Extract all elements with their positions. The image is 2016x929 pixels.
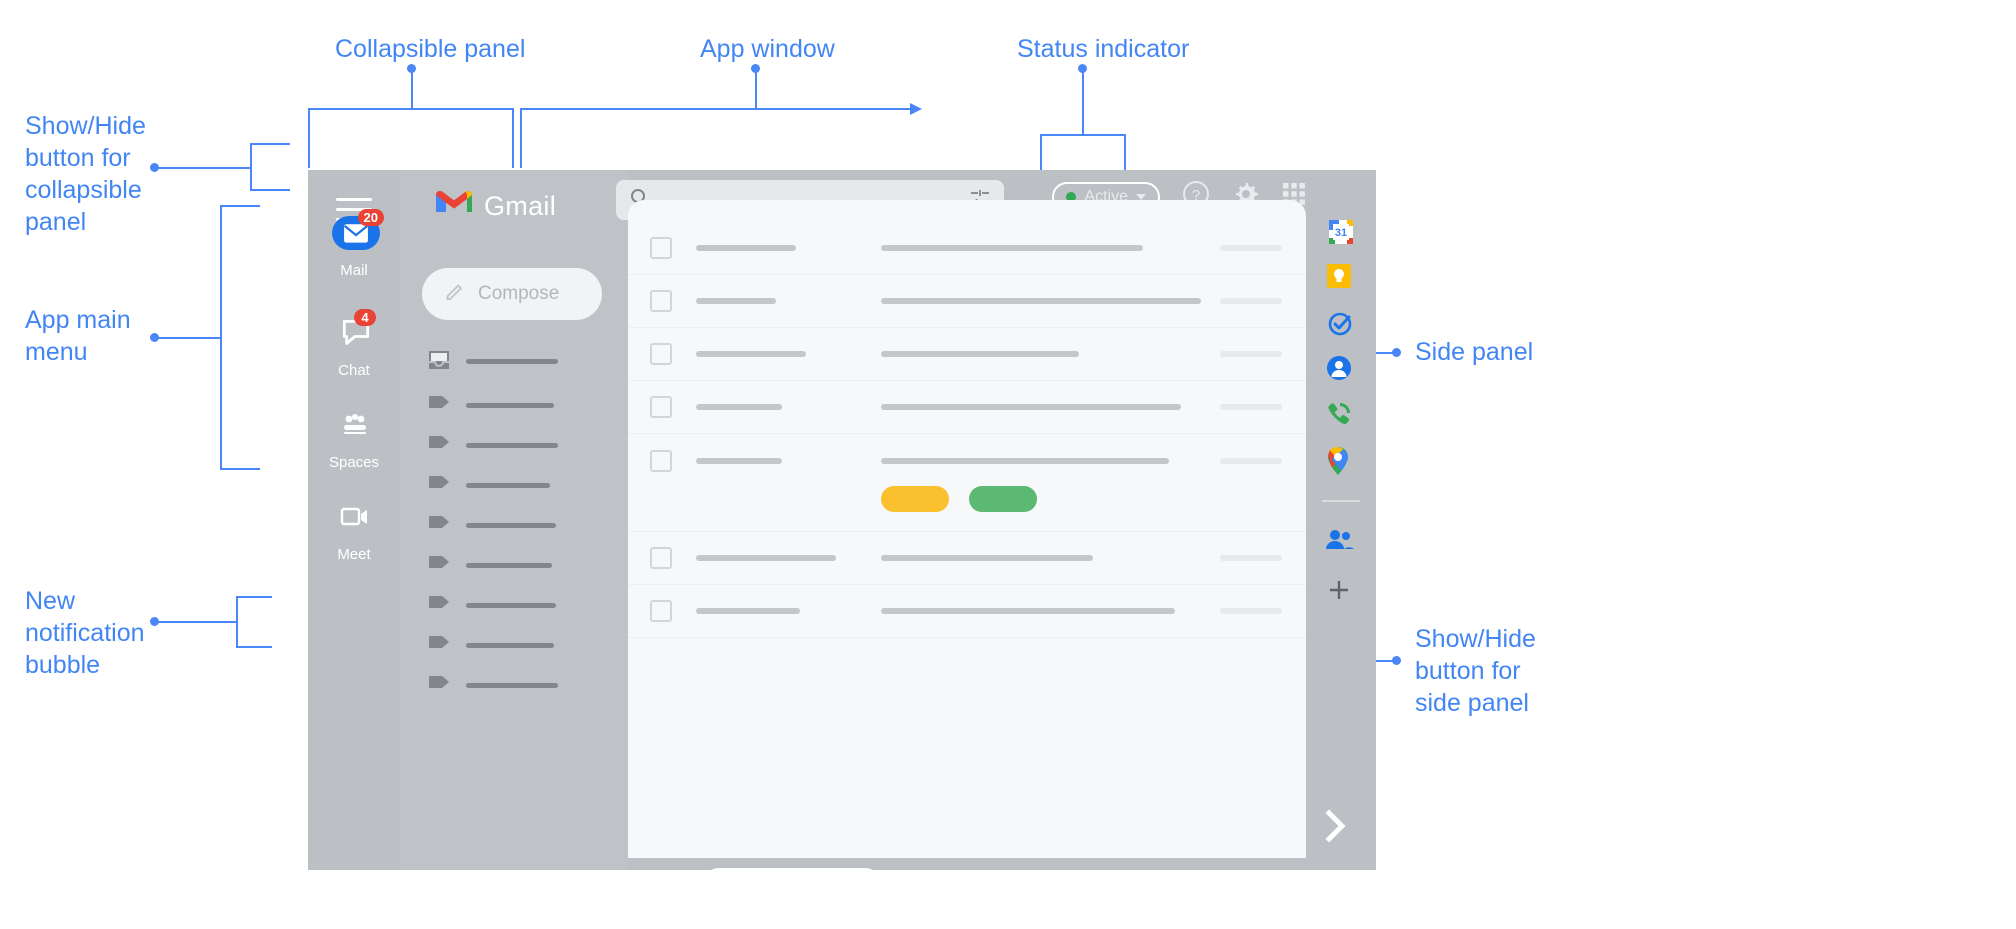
row-checkbox[interactable]: [650, 450, 672, 472]
row-subject-bar: [881, 458, 1169, 464]
spaces-people-icon: [326, 406, 382, 446]
bracket-show-hide-collapsible: [250, 143, 290, 191]
annotation-status-indicator: Status indicator: [1017, 33, 1189, 65]
leader-line-app-main-menu: [156, 337, 220, 339]
main-menu-item-meet[interactable]: Meet: [308, 498, 400, 563]
google-voice-icon[interactable]: [1325, 400, 1357, 432]
bracket-app-main-menu: [220, 205, 260, 470]
row-checkbox[interactable]: [650, 547, 672, 569]
folder-label-bar: [466, 443, 558, 448]
row-date-bar: [1220, 404, 1282, 410]
arrow-line-app-window: [520, 108, 920, 110]
leader-line-app-window: [755, 68, 757, 108]
row-date-bar: [1220, 245, 1282, 251]
folder-item-label-2[interactable]: [428, 434, 558, 456]
annotation-show-hide-collapsible: Show/Hide button for collapsible panel: [25, 110, 146, 238]
folder-label-bar: [466, 563, 552, 568]
google-contacts-icon[interactable]: [1325, 354, 1357, 386]
collapsible-panel: Compose: [400, 170, 628, 870]
row-date-bar: [1220, 608, 1282, 614]
row-sender-bar: [696, 458, 782, 464]
main-menu-item-spaces[interactable]: Spaces: [308, 406, 400, 471]
side-panel-divider: [1322, 500, 1360, 502]
leader-line-notification: [156, 621, 236, 623]
mail-list-row[interactable]: [628, 328, 1306, 381]
chevron-down-icon: [1136, 194, 1146, 200]
gmail-m-logo-icon: [436, 190, 472, 222]
bracket-notification: [236, 596, 272, 648]
main-menu-label-chat: Chat: [308, 362, 400, 379]
pencil-compose-icon: [444, 280, 466, 308]
leader-line-status: [1082, 68, 1084, 134]
mail-list-row[interactable]: [628, 381, 1306, 434]
annotation-side-panel: Side panel: [1415, 336, 1533, 368]
svg-text:31: 31: [1335, 227, 1347, 239]
google-tasks-icon[interactable]: [1325, 308, 1357, 340]
row-checkbox[interactable]: [650, 290, 672, 312]
row-sender-bar: [696, 245, 796, 251]
inbox-icon: [428, 350, 450, 372]
row-sender-bar: [696, 555, 836, 561]
side-panel-toggle-button[interactable]: [1320, 808, 1360, 848]
row-date-bar: [1220, 298, 1282, 304]
mail-unread-badge: 20: [358, 209, 384, 226]
google-maps-icon[interactable]: [1325, 446, 1357, 478]
folder-item-label-7[interactable]: [428, 634, 554, 656]
label-tag-icon: [428, 514, 450, 536]
groups-people-icon[interactable]: [1325, 528, 1357, 560]
google-calendar-icon[interactable]: 31: [1325, 216, 1357, 248]
label-tag-icon: [428, 394, 450, 416]
folder-label-bar: [466, 523, 556, 528]
row-checkbox[interactable]: [650, 237, 672, 259]
action-chip-yellow[interactable]: [881, 486, 949, 512]
arrow-head-app-window: [910, 103, 922, 115]
leader-line-collapsible: [411, 68, 413, 110]
row-subject-bar: [881, 404, 1181, 410]
main-menu-label-meet: Meet: [308, 546, 400, 563]
folder-item-inbox[interactable]: [428, 350, 558, 372]
annotation-app-main-menu: App main menu: [25, 304, 131, 368]
google-keep-icon[interactable]: [1325, 262, 1357, 294]
main-menu-label-spaces: Spaces: [308, 454, 400, 471]
label-tag-icon: [428, 554, 450, 576]
mail-envelope-icon: 20: [326, 214, 382, 254]
annotation-new-notification-bubble: New notification bubble: [25, 585, 145, 681]
folder-item-label-6[interactable]: [428, 594, 556, 616]
leader-line-show-hide-collapsible: [156, 167, 250, 169]
folder-label-bar: [466, 403, 554, 408]
row-sender-bar: [696, 298, 776, 304]
row-subject-bar: [881, 351, 1079, 357]
mail-list-row-with-chips[interactable]: [628, 434, 1306, 532]
row-sender-bar: [696, 608, 800, 614]
gmail-brand[interactable]: Gmail: [436, 190, 556, 222]
row-subject-bar: [881, 555, 1093, 561]
label-tag-icon: [428, 674, 450, 696]
row-sender-bar: [696, 404, 782, 410]
row-date-bar: [1220, 351, 1282, 357]
folder-item-label-1[interactable]: [428, 394, 554, 416]
annotation-app-window: App window: [700, 33, 835, 65]
side-panel: 31: [1306, 170, 1376, 870]
folder-item-label-4[interactable]: [428, 514, 556, 536]
label-tag-icon: [428, 594, 450, 616]
row-date-bar: [1220, 458, 1282, 464]
mail-list: [628, 200, 1306, 858]
app-title: Gmail: [484, 191, 556, 222]
label-tag-icon: [428, 474, 450, 496]
label-tag-icon: [428, 634, 450, 656]
mail-list-row[interactable]: [628, 275, 1306, 328]
mail-list-row[interactable]: [628, 222, 1306, 275]
row-checkbox[interactable]: [650, 600, 672, 622]
annotation-collapsible-panel: Collapsible panel: [335, 33, 525, 65]
folder-item-label-5[interactable]: [428, 554, 552, 576]
add-plus-icon[interactable]: [1325, 576, 1357, 608]
bracket-collapsible: [308, 108, 514, 168]
mail-list-row[interactable]: [628, 532, 1306, 585]
arrow-tick-app-window-left: [520, 108, 522, 168]
folder-label-bar: [466, 359, 558, 364]
action-chip-green[interactable]: [969, 486, 1037, 512]
app-window: 20 Mail 4 Chat: [308, 170, 1376, 870]
row-checkbox[interactable]: [650, 396, 672, 418]
meet-video-camera-icon: [326, 498, 382, 538]
compose-button[interactable]: Compose: [422, 268, 602, 320]
notification-bubble[interactable]: Buddies Matt: Coffee? Reply: [703, 868, 881, 870]
chat-unread-badge: 4: [354, 309, 376, 326]
folder-label-bar: [466, 683, 558, 688]
app-main-menu: 20 Mail 4 Chat: [308, 170, 400, 870]
bracket-status: [1040, 134, 1126, 170]
folder-label-bar: [466, 643, 554, 648]
annotation-show-hide-side-panel: Show/Hide button for side panel: [1415, 623, 1536, 719]
main-menu-label-mail: Mail: [308, 262, 400, 279]
row-subject-bar: [881, 245, 1143, 251]
compose-label: Compose: [478, 283, 559, 305]
folder-item-label-3[interactable]: [428, 474, 550, 496]
folder-label-bar: [466, 483, 550, 488]
row-subject-bar: [881, 608, 1175, 614]
folder-item-label-8[interactable]: [428, 674, 558, 696]
row-date-bar: [1220, 555, 1282, 561]
row-subject-bar: [881, 298, 1201, 304]
mail-list-row[interactable]: [628, 585, 1306, 638]
folder-label-bar: [466, 603, 556, 608]
chat-bubble-icon: 4: [326, 314, 382, 354]
main-menu-item-chat[interactable]: 4 Chat: [308, 314, 400, 379]
row-sender-bar: [696, 351, 806, 357]
row-checkbox[interactable]: [650, 343, 672, 365]
main-menu-item-mail[interactable]: 20 Mail: [308, 214, 400, 279]
label-tag-icon: [428, 434, 450, 456]
